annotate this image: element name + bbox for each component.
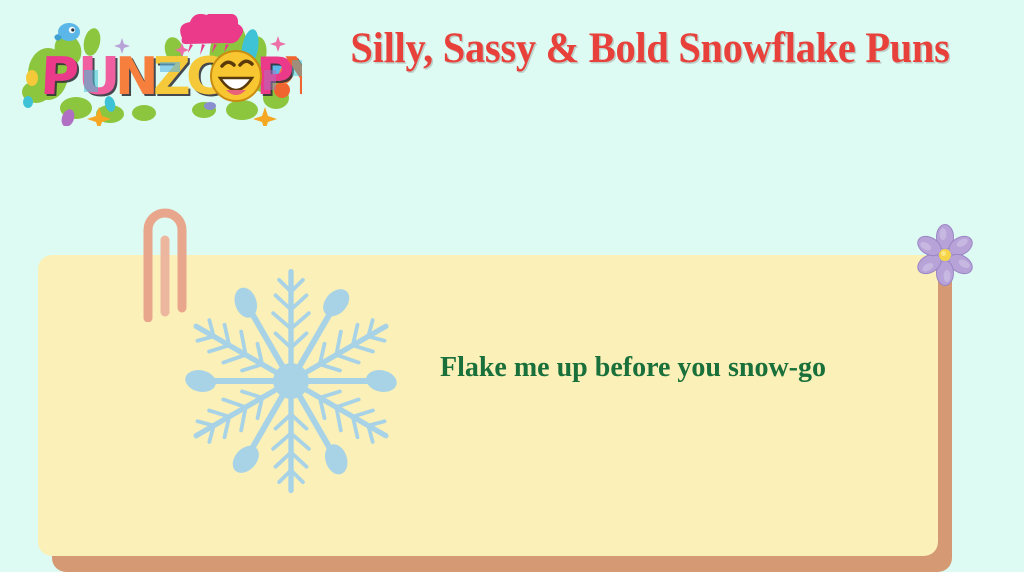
svg-text:P: P (39, 47, 80, 107)
bird-blob-decoration (54, 23, 80, 41)
svg-text:N: N (115, 47, 159, 107)
pun-text: Flake me up before you snow-go (420, 348, 846, 387)
logo-wordmark: P U N Z C P Y P U N Z C P Y (39, 47, 302, 109)
punzcopy-logo[interactable]: P U N Z C P Y P U N Z C P Y (14, 14, 302, 126)
page-header: P U N Z C P Y P U N Z C P Y (0, 0, 1024, 150)
laughing-emoji-icon (211, 51, 261, 101)
flower-icon (914, 224, 976, 286)
paperclip-icon (138, 200, 202, 322)
page-root: { "page": { "background_color": "#ddfbf2… (0, 0, 1024, 572)
svg-text:Y: Y (285, 47, 302, 107)
snowflake-graphic (172, 262, 410, 500)
page-title: Silly, Sassy & Bold Snowflake Puns (329, 24, 972, 74)
